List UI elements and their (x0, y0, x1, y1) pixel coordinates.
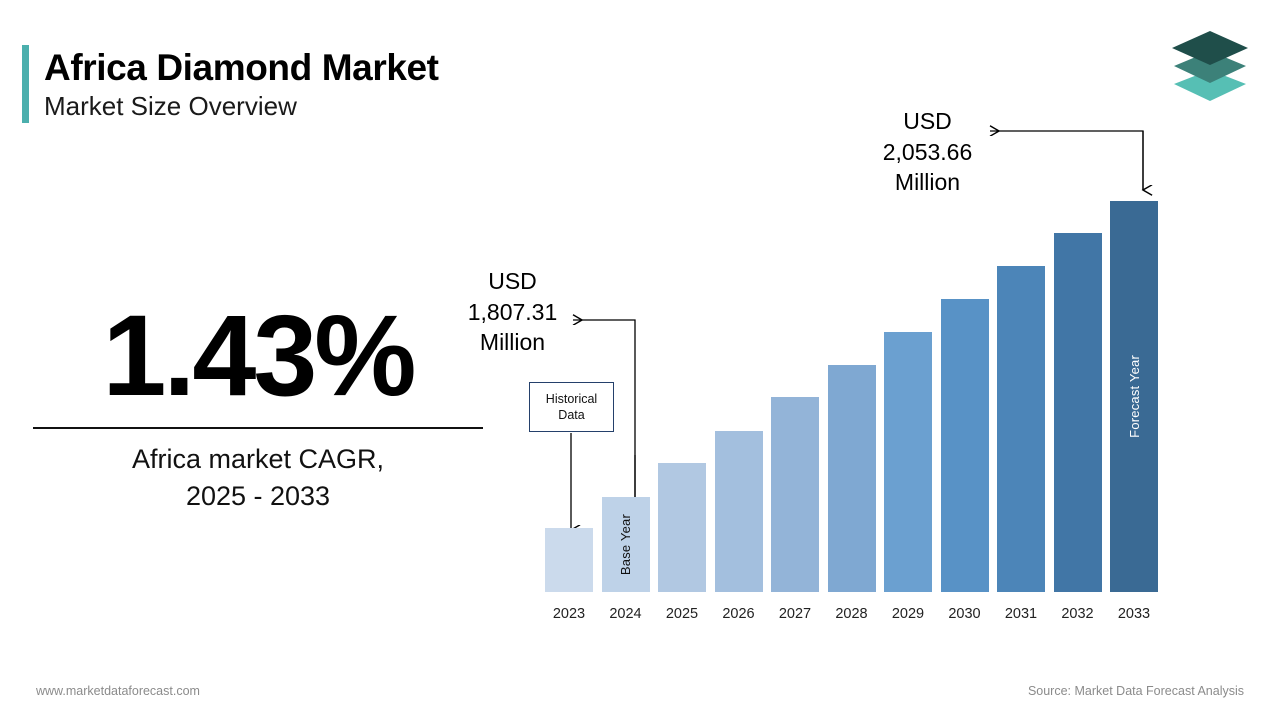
bar-2032[interactable] (1054, 233, 1102, 592)
header: Africa Diamond Market Market Size Overvi… (22, 45, 439, 123)
x-axis-label-2024: 2024 (602, 606, 650, 622)
bar-column-2027: 2027 (771, 200, 819, 592)
bar-column-2031: 2031 (997, 200, 1045, 592)
cagr-caption-line1: Africa market CAGR, (33, 441, 483, 478)
cagr-block: 1.43% Africa market CAGR, 2025 - 2033 (33, 300, 483, 515)
bar-2023[interactable] (545, 528, 593, 592)
bar-2027[interactable] (771, 397, 819, 592)
bar-chart: 2023Base Year202420252026202720282029203… (545, 120, 1170, 630)
bar-column-2023: 2023 (545, 200, 593, 592)
page-title: Africa Diamond Market (44, 47, 439, 88)
bar-2030[interactable] (941, 299, 989, 592)
title-block: Africa Diamond Market Market Size Overvi… (44, 45, 439, 123)
bar-2028[interactable] (828, 365, 876, 592)
cagr-value: 1.43% (33, 300, 483, 413)
footer-website[interactable]: www.marketdataforecast.com (36, 684, 200, 698)
bar-column-2029: 2029 (884, 200, 932, 592)
bar-column-2028: 2028 (828, 200, 876, 592)
x-axis-label-2030: 2030 (941, 606, 989, 622)
bar-2026[interactable] (715, 431, 763, 592)
x-axis-label-2023: 2023 (545, 606, 593, 622)
bar-column-2026: 2026 (715, 200, 763, 592)
x-axis-label-2029: 2029 (884, 606, 932, 622)
logo-diamond-top (1172, 31, 1248, 65)
x-axis-label-2028: 2028 (828, 606, 876, 622)
bar-2024[interactable]: Base Year (602, 497, 650, 592)
x-axis-label-2025: 2025 (658, 606, 706, 622)
footer-source: Source: Market Data Forecast Analysis (1028, 684, 1244, 698)
logo-svg (1160, 26, 1260, 108)
bar-column-2024: Base Year2024 (602, 200, 650, 592)
accent-bar (22, 45, 29, 123)
bar-column-2033: Forecast Year2033 (1110, 200, 1158, 592)
forecast-year-bar-label: Forecast Year (1127, 355, 1142, 438)
bar-2033[interactable]: Forecast Year (1110, 201, 1158, 592)
bar-2025[interactable] (658, 463, 706, 592)
stacked-diamonds-logo (1160, 26, 1260, 108)
x-axis-label-2033: 2033 (1110, 606, 1158, 622)
page-subtitle: Market Size Overview (44, 90, 439, 123)
bar-2031[interactable] (997, 266, 1045, 592)
cagr-divider (33, 427, 483, 429)
bar-2029[interactable] (884, 332, 932, 592)
cagr-caption: Africa market CAGR, 2025 - 2033 (33, 441, 483, 516)
x-axis-label-2027: 2027 (771, 606, 819, 622)
bar-column-2030: 2030 (941, 200, 989, 592)
base-year-bar-label: Base Year (618, 514, 633, 575)
x-axis-label-2032: 2032 (1054, 606, 1102, 622)
x-axis-label-2026: 2026 (715, 606, 763, 622)
bar-chart-plot-area: 2023Base Year202420252026202720282029203… (545, 200, 1170, 592)
bar-column-2032: 2032 (1054, 200, 1102, 592)
bar-column-2025: 2025 (658, 200, 706, 592)
x-axis-label-2031: 2031 (997, 606, 1045, 622)
cagr-caption-line2: 2025 - 2033 (33, 478, 483, 515)
